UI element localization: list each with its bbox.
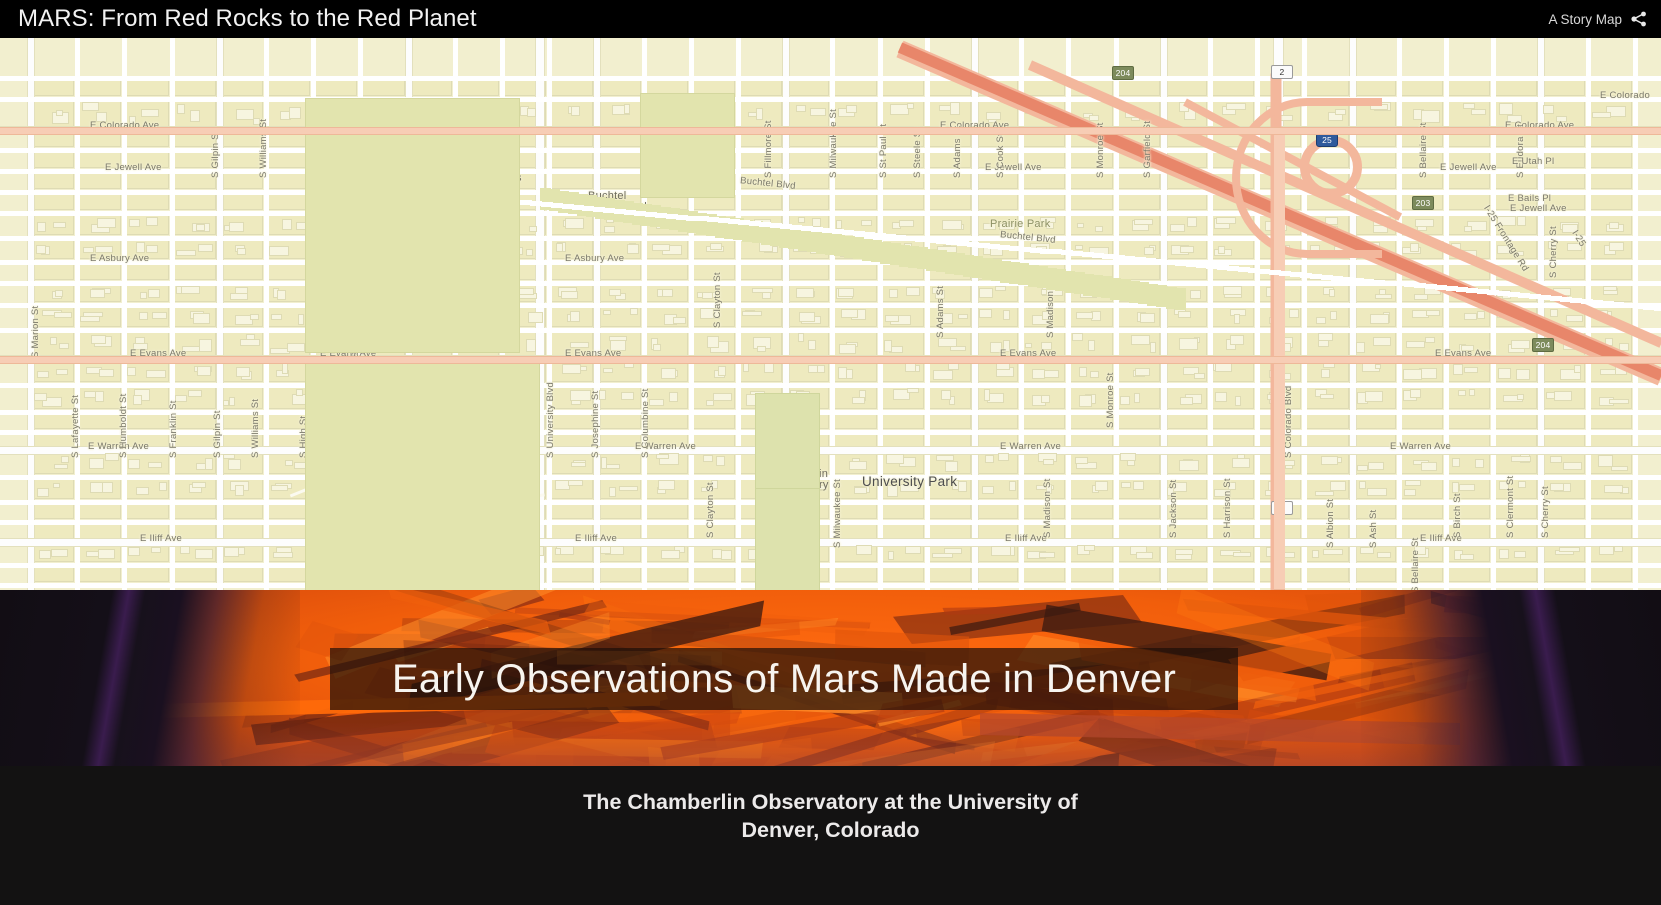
map-label: E Jewell Ave	[1440, 162, 1497, 173]
map-label: Prairie Park	[990, 218, 1050, 230]
map-label: E Iliff Ave	[1005, 533, 1047, 544]
map-label: S Lafayette St	[70, 395, 81, 458]
map-label: S Clermont St	[1505, 476, 1516, 538]
map-label: S Clayton St	[705, 482, 716, 538]
map-label: S Gilpin St	[212, 410, 223, 458]
share-network-icon[interactable]	[1631, 11, 1647, 27]
map-label: S Columbine St	[640, 388, 651, 458]
map-label: S Marion St	[30, 306, 41, 358]
map-label: S Franklin St	[168, 400, 179, 458]
route-shield: 204	[1112, 66, 1134, 80]
route-shield: 25	[1316, 133, 1338, 147]
map-label: E Warren Ave	[1000, 441, 1061, 452]
caption-line-2: Denver, Colorado	[741, 818, 919, 842]
map-label: S Steele St	[912, 128, 923, 178]
caption-section: The Chamberlin Observatory at the Univer…	[0, 766, 1661, 905]
map-label: S Milwaukee St	[832, 479, 843, 548]
map-label: S Humboldt St	[118, 394, 129, 459]
map-label: I-25	[1569, 228, 1588, 249]
map-label: S Adams St	[935, 286, 946, 338]
map-label: E Utah Pl	[1512, 156, 1554, 167]
map-label: S Milwaukee St	[828, 109, 839, 178]
map-label: E Jewell Ave	[1510, 203, 1567, 214]
map-label: S Cook St	[995, 133, 1006, 178]
map-label: E Colorado	[1600, 90, 1650, 101]
banner-title: Early Observations of Mars Made in Denve…	[392, 659, 1176, 699]
map-label: S Birch St	[1452, 493, 1463, 538]
header-actions: A Story Map	[1548, 11, 1647, 27]
map-label: Buchtel Blvd	[1000, 229, 1057, 246]
banner-title-overlay: Early Observations of Mars Made in Denve…	[330, 648, 1238, 710]
map-label: S Josephine St	[590, 391, 601, 458]
route-shield: 204	[1532, 338, 1554, 352]
story-map-label: A Story Map	[1548, 12, 1622, 27]
map-label: E Iliff Ave	[140, 533, 182, 544]
page-title: MARS: From Red Rocks to the Red Planet	[18, 7, 477, 31]
map-label: E Asbury Ave	[90, 253, 149, 264]
map-label: S Clayton St	[712, 272, 723, 328]
map-label: E Asbury Ave	[565, 253, 624, 264]
map-label: E Jewell Ave	[985, 162, 1042, 173]
map-label: E Warren Ave	[1390, 441, 1451, 452]
map-label: S Cherry St	[1540, 486, 1551, 538]
map-canvas[interactable]: E Colorado AveE Colorado AveE Colorado A…	[0, 38, 1661, 590]
map-label: S Gilpin St	[210, 130, 221, 178]
map-label: S Madison St	[1042, 479, 1053, 539]
map-label: E Jewell Ave	[105, 162, 162, 173]
map-label: S Cherry St	[1548, 226, 1559, 278]
map-label: University Park	[862, 474, 957, 489]
map-label: S Jackson St	[1168, 480, 1179, 538]
map-label: S Ash St	[1368, 510, 1379, 548]
map-label: S Williams St	[250, 399, 261, 458]
map-label: S University Blvd	[545, 382, 556, 458]
map-label: S Monroe St	[1105, 372, 1116, 428]
route-shield: 2	[1271, 65, 1293, 79]
route-shield: 203	[1412, 196, 1434, 210]
caption-line-1: The Chamberlin Observatory at the Univer…	[583, 790, 1078, 814]
map-labels: E Colorado AveE Colorado AveE Colorado A…	[0, 38, 1661, 590]
app-header: MARS: From Red Rocks to the Red Planet A…	[0, 0, 1661, 38]
caption-text: The Chamberlin Observatory at the Univer…	[481, 788, 1181, 845]
map-label: S Harrison St	[1222, 478, 1233, 538]
map-label: S Albion St	[1325, 499, 1336, 548]
map-label: E Iliff Ave	[575, 533, 617, 544]
map-label: S Bellaire St	[1410, 537, 1421, 590]
